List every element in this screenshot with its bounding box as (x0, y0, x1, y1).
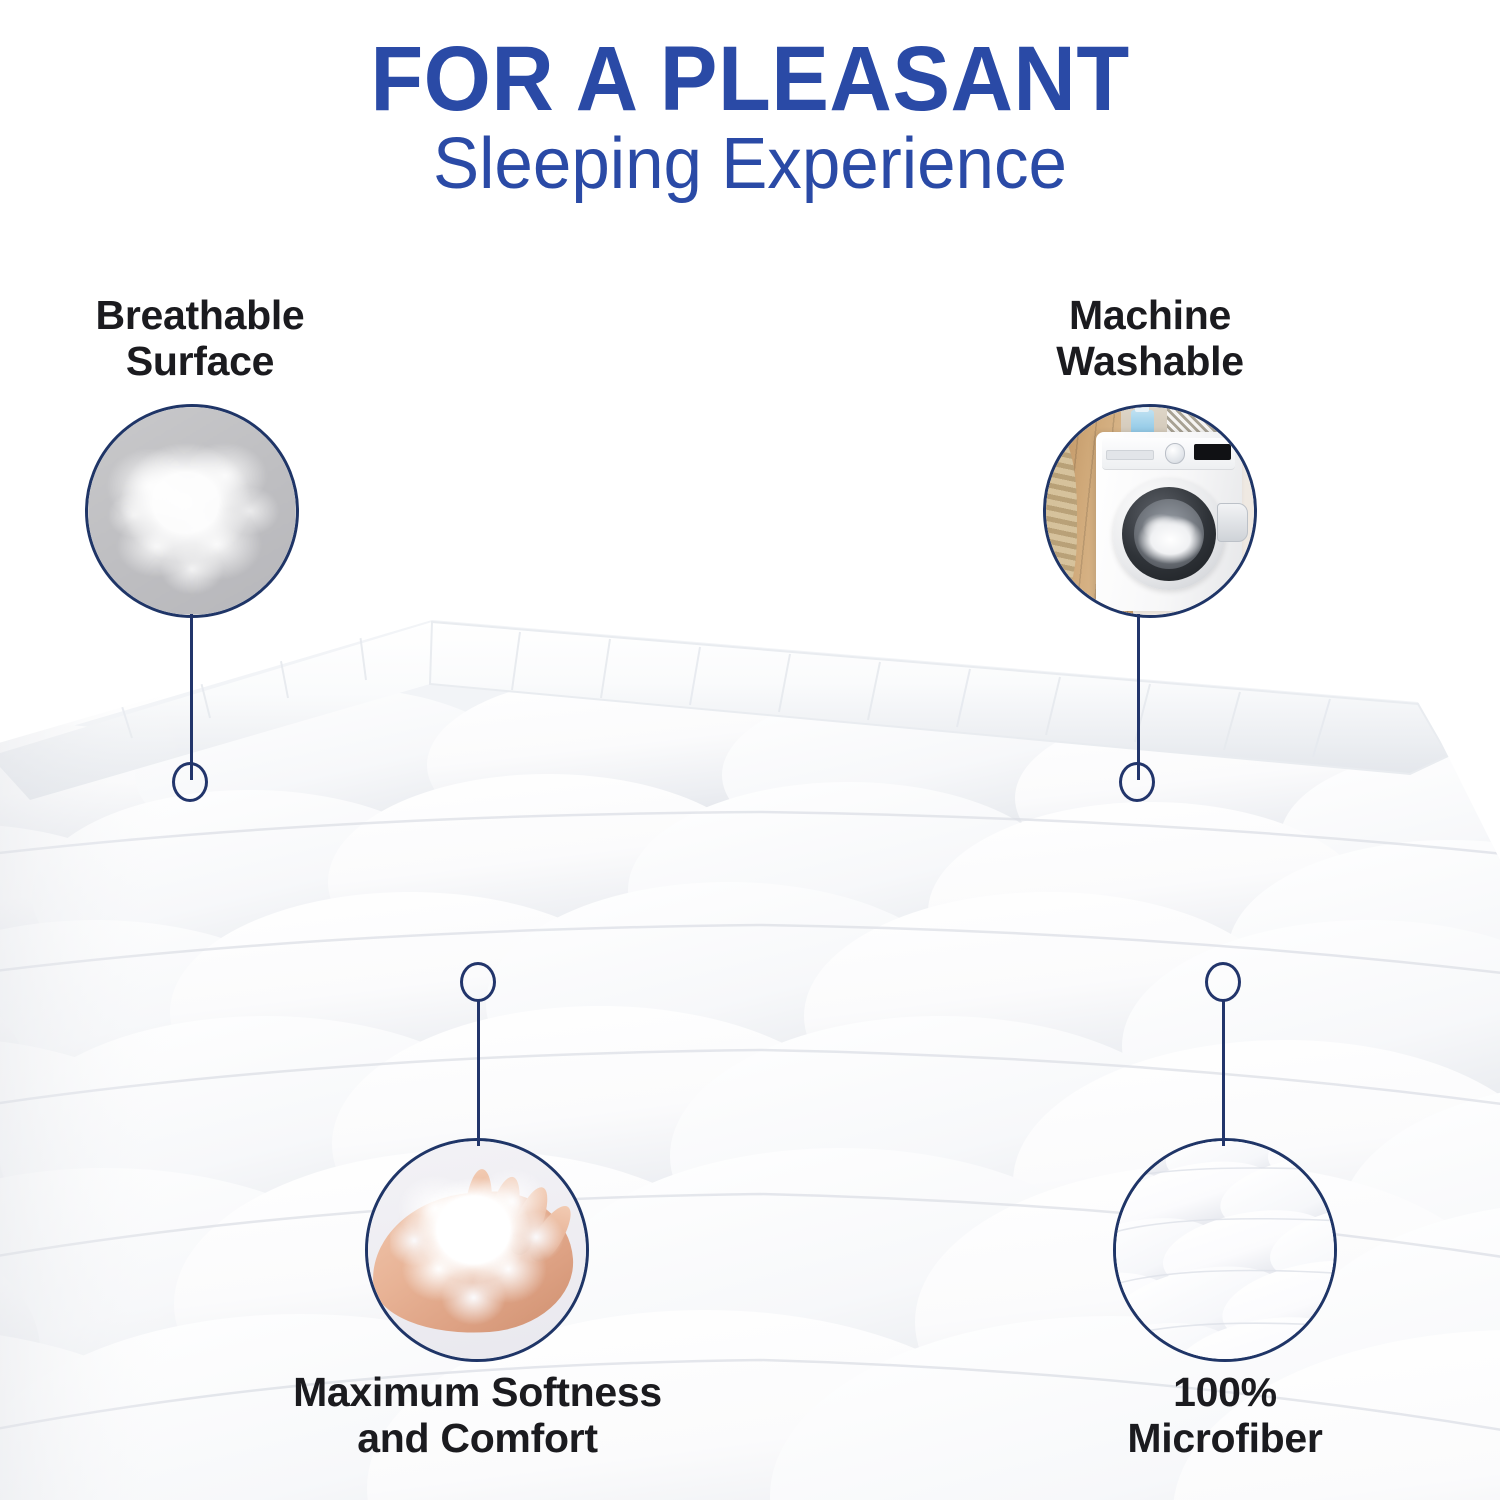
bubble-image-microfiber (1113, 1138, 1337, 1362)
mattress-quilting-svg (0, 560, 1500, 1500)
callout-label-microfiber: 100% Microfiber (1075, 1370, 1375, 1462)
callout-label-breathable-surface: Breathable Surface (35, 293, 365, 385)
connector-line-breathable-surface (190, 614, 193, 780)
page-title: FOR A PLEASANT Sleeping Experience (0, 34, 1500, 202)
connector-line-maximum-softness (477, 1000, 480, 1146)
washing-machine-icon (1046, 407, 1254, 615)
product-image-mattress-pad (0, 560, 1500, 1500)
fiber-cloud-icon (88, 407, 296, 615)
callout-label-machine-washable: Machine Washable (985, 293, 1315, 385)
bubble-image-maximum-softness (365, 1138, 589, 1362)
anchor-ring-breathable-surface (172, 762, 208, 802)
anchor-ring-machine-washable (1119, 762, 1155, 802)
connector-line-microfiber (1222, 1000, 1225, 1146)
infographic-canvas: FOR A PLEASANT Sleeping Experience (0, 0, 1500, 1500)
connector-line-machine-washable (1137, 614, 1140, 780)
bubble-image-machine-washable (1043, 404, 1257, 618)
headline-secondary: Sleeping Experience (30, 128, 1470, 201)
quilted-microfiber-icon (1116, 1141, 1334, 1359)
microfiber-quilt-pattern (1116, 1141, 1334, 1359)
anchor-ring-maximum-softness (460, 962, 496, 1002)
bubble-image-breathable-surface (85, 404, 299, 618)
anchor-ring-microfiber (1205, 962, 1241, 1002)
callout-label-maximum-softness: Maximum Softness and Comfort (255, 1370, 700, 1462)
headline-primary: FOR A PLEASANT (45, 34, 1455, 124)
hand-holding-fiberfill-icon (368, 1141, 586, 1359)
